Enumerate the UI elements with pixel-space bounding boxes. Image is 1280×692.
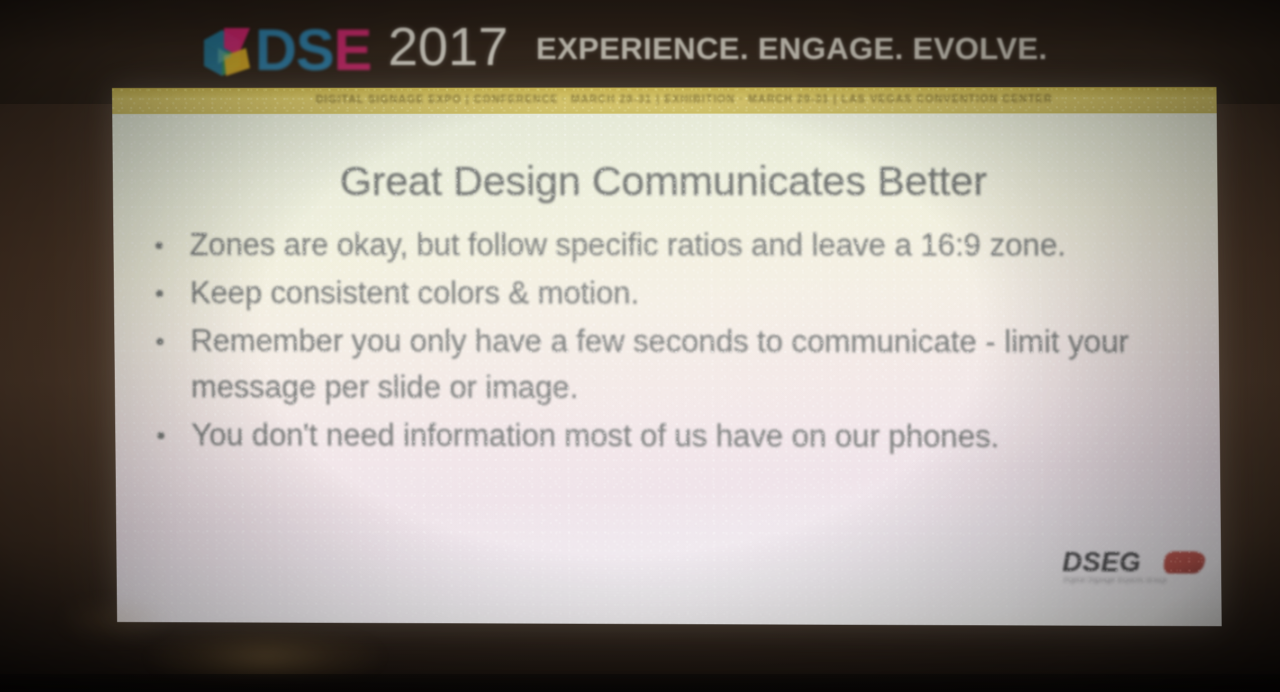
dse-letter-d: D <box>255 18 296 83</box>
list-item: Remember you only have a few seconds to … <box>132 318 1203 412</box>
dse-letter-s: S <box>296 18 334 83</box>
list-item: Zones are okay, but follow specific rati… <box>131 222 1202 269</box>
bullet-dot-icon <box>156 338 163 345</box>
list-item-text: Keep consistent colors & motion. <box>190 275 639 311</box>
slide-bullet-list: Zones are okay, but follow specific rati… <box>131 222 1204 463</box>
event-details-bar: DIGITAL SIGNAGE EXPO | CONFERENCE · MARC… <box>112 87 1217 114</box>
dseg-tagline: Digital Signage Experts Group <box>1063 577 1167 584</box>
dseg-red-swoosh-icon <box>1163 551 1207 573</box>
bullet-dot-icon <box>156 290 163 297</box>
bullet-dot-icon <box>155 242 162 249</box>
projected-slide-photo: DSE 2017 EXPERIENCE. ENGAGE. EVOLVE. DIG… <box>0 0 1280 692</box>
presentation-slide: DIGITAL SIGNAGE EXPO | CONFERENCE · MARC… <box>112 87 1222 626</box>
dseg-footer-logo: DSEG Digital Signage Experts Group <box>1054 547 1207 592</box>
dse-brand-wordmark: DSE <box>255 17 371 84</box>
bullet-dot-icon <box>157 432 164 439</box>
event-tagline: EXPERIENCE. ENGAGE. EVOLVE. <box>536 31 1048 67</box>
dseg-wordmark: DSEG <box>1062 547 1141 579</box>
list-item-text: You don't need information most of us ha… <box>191 417 999 454</box>
list-item-text: Zones are okay, but follow specific rati… <box>189 227 1066 263</box>
list-item: You don't need information most of us ha… <box>133 412 1204 461</box>
event-year: 2017 <box>388 16 508 78</box>
room-floor-strip <box>0 674 1280 692</box>
event-details-text: DIGITAL SIGNAGE EXPO | CONFERENCE · MARC… <box>190 93 1180 106</box>
list-item-text: Remember you only have a few seconds to … <box>190 323 1129 405</box>
list-item: Keep consistent colors & motion. <box>132 270 1203 317</box>
slide-content: Great Design Communicates Better Zones a… <box>112 113 1221 626</box>
dse-letter-e: E <box>334 18 372 83</box>
slide-title: Great Design Communicates Better <box>113 158 1218 205</box>
dse-cube-logo-icon <box>200 26 262 84</box>
